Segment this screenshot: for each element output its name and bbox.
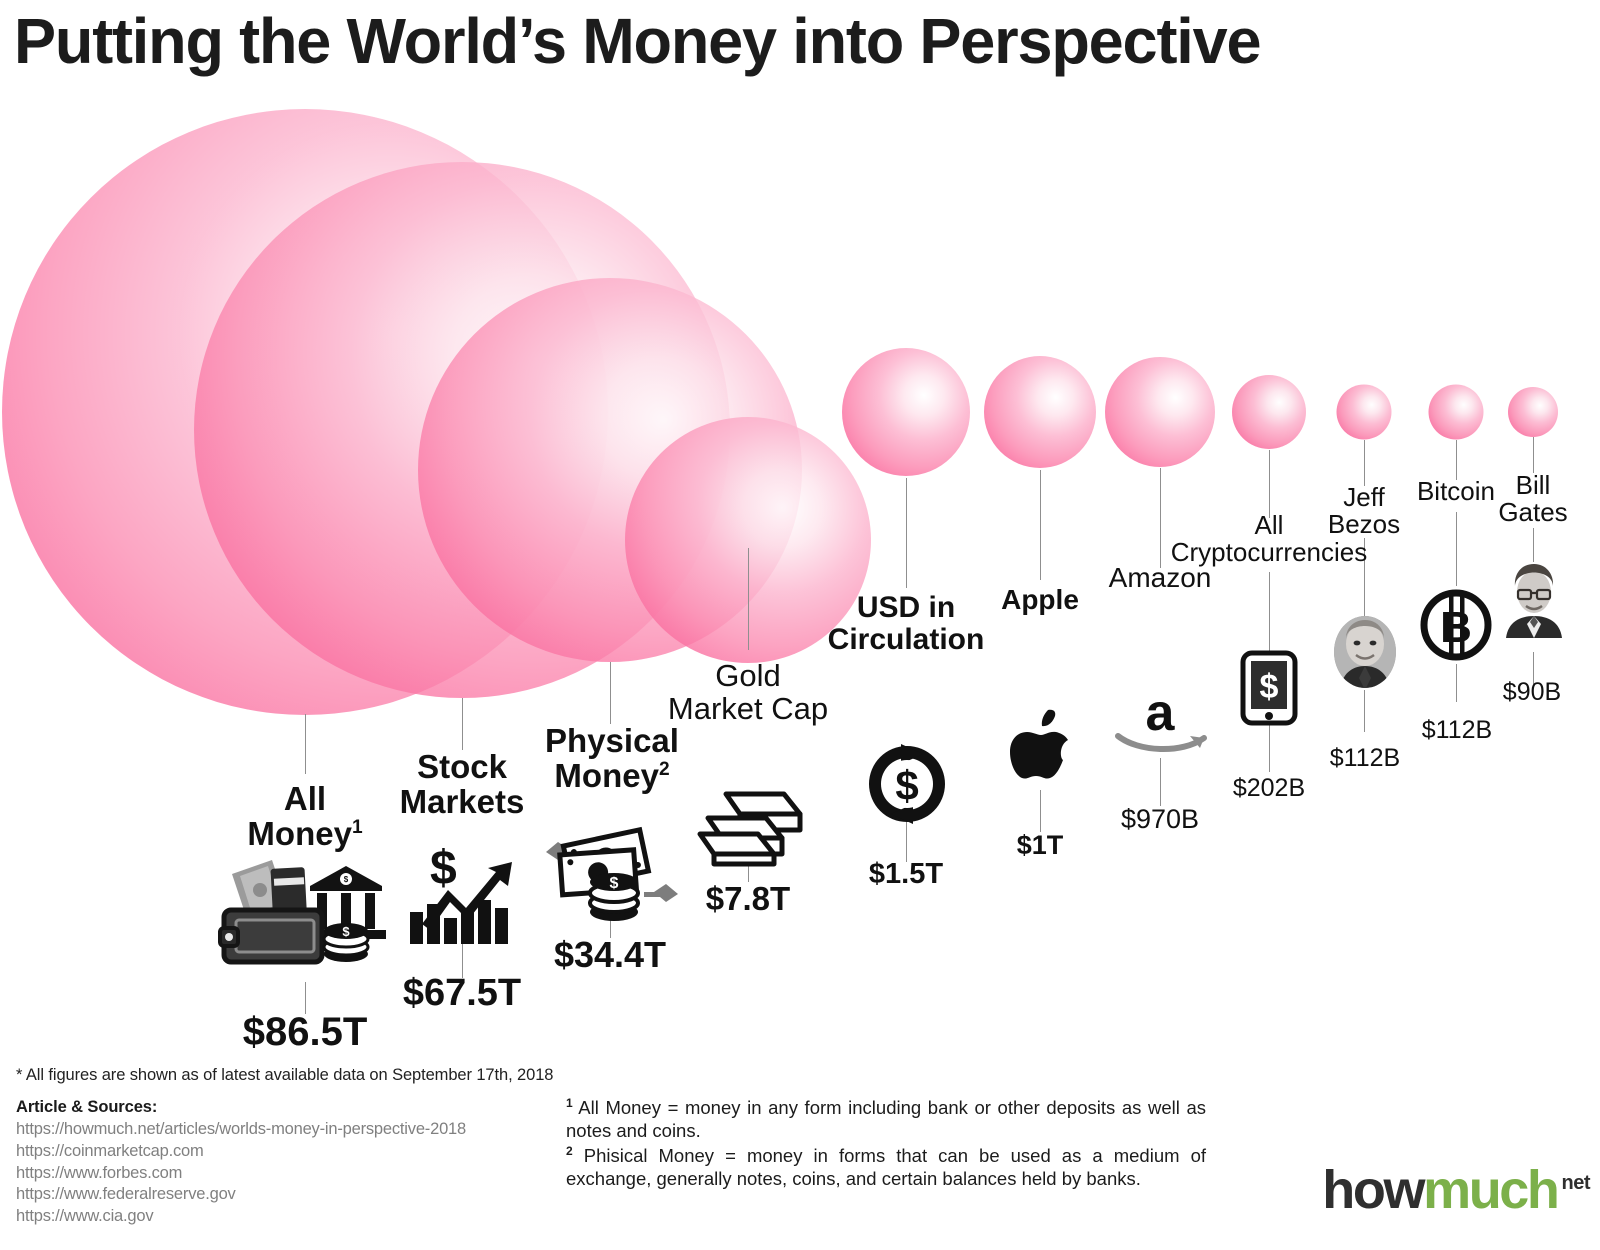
leader-crypto <box>1269 450 1270 518</box>
label-amazon: Amazon <box>1060 563 1260 592</box>
value-usd-circulation: $1.5T <box>826 858 986 891</box>
footnote-1: 1 All Money = money in any form includin… <box>566 1096 1206 1143</box>
bubble-all-cryptocurrencies <box>1232 375 1306 449</box>
footnote-marker: 2 <box>566 1144 573 1158</box>
wallet-bank-coins-icon: 0000 0000 $ $ <box>214 846 394 971</box>
footnote-2: 2 Phisical Money = money in forms that c… <box>566 1144 1206 1191</box>
value-all-money: $86.5T <box>205 1010 405 1055</box>
bubble-usd-in-circulation <box>842 348 970 476</box>
footnote-text: All Money = money in any form including … <box>566 1097 1206 1141</box>
source-link[interactable]: https://www.forbes.com <box>16 1163 466 1185</box>
banknotes-coins-exchange-icon: $ <box>544 812 680 929</box>
howmuch-logo[interactable]: howmuchnet <box>1322 1163 1590 1217</box>
leader-gates <box>1533 437 1534 473</box>
svg-text:$: $ <box>610 875 619 892</box>
footnotes-block: 1 All Money = money in any form includin… <box>566 1096 1206 1192</box>
bill-gates-portrait-icon <box>1500 562 1568 643</box>
value-bitcoin: $112B <box>1392 716 1522 745</box>
value-amazon: $970B <box>1084 804 1236 835</box>
bubble-jeff-bezos <box>1337 385 1392 440</box>
svg-text:$: $ <box>344 875 349 884</box>
leader-bezos-lower2 <box>1364 690 1365 732</box>
svg-text:a: a <box>1146 690 1176 742</box>
source-link[interactable]: https://howmuch.net/articles/worlds-mone… <box>16 1119 466 1141</box>
infographic-canvas: Putting the World’s Money into Perspecti… <box>0 0 1600 1250</box>
value-bill-gates: $90B <box>1472 678 1592 707</box>
source-link[interactable]: https://www.cia.gov <box>16 1206 466 1228</box>
date-note: * All figures are shown as of latest ava… <box>16 1066 553 1085</box>
source-link[interactable]: https://www.federalreserve.gov <box>16 1184 466 1206</box>
logo-net: net <box>1562 1172 1591 1194</box>
svg-text:$: $ <box>342 924 350 939</box>
logo-how: how <box>1322 1160 1423 1220</box>
leader-apple <box>1040 470 1041 580</box>
label-gold-market-cap: Gold Market Cap <box>628 660 868 725</box>
bubble-amazon <box>1105 357 1215 467</box>
leader-gold-market-cap <box>748 548 749 650</box>
leader-physical-money <box>610 662 611 724</box>
source-link[interactable]: https://coinmarketcap.com <box>16 1141 466 1163</box>
value-gold-market-cap: $7.8T <box>658 880 838 918</box>
bubble-bill-gates <box>1508 387 1558 437</box>
leader-stock-markets <box>462 698 463 750</box>
leader-crypto-lower <box>1269 572 1270 656</box>
value-physical-money: $34.4T <box>512 934 708 976</box>
apple-logo-icon <box>1008 708 1074 789</box>
gold-bars-icon <box>692 786 808 875</box>
amazon-logo-icon: a <box>1112 690 1210 761</box>
value-jeff-bezos: $112B <box>1300 744 1430 773</box>
value-all-crypto: $202B <box>1199 774 1339 803</box>
bar-chart-growth-icon: $ <box>400 838 524 955</box>
bubble-apple <box>984 356 1096 468</box>
footnote-text: Phisical Money = money in forms that can… <box>566 1145 1206 1189</box>
leader-apple-lower <box>1040 790 1041 832</box>
sources-heading: Article & Sources: <box>16 1098 466 1117</box>
bitcoin-logo-icon: B <box>1419 588 1493 667</box>
label-bill-gates: Bill Gates <box>1468 472 1598 527</box>
dollar-circulation-icon: $ <box>865 742 949 831</box>
svg-text:$: $ <box>430 842 457 895</box>
svg-text:$: $ <box>895 762 918 809</box>
leader-bezos <box>1364 440 1365 486</box>
value-stock-markets: $67.5T <box>362 972 562 1015</box>
svg-text:$: $ <box>1260 668 1279 706</box>
leader-amazon-lower <box>1160 758 1161 806</box>
sources-block: Article & Sources: https://howmuch.net/a… <box>16 1098 466 1228</box>
svg-text:B: B <box>1440 603 1472 652</box>
bubble-bitcoin <box>1429 385 1484 440</box>
phone-dollar-icon: $ <box>1240 650 1298 731</box>
leader-bitcoin <box>1456 440 1457 480</box>
leader-usd-circulation <box>906 478 907 588</box>
logo-much: much <box>1423 1160 1557 1220</box>
leader-all-money <box>305 714 306 774</box>
leader-bitcoin-lower <box>1456 512 1457 586</box>
leader-bitcoin-lower2 <box>1456 664 1457 702</box>
footnote-marker: 1 <box>566 1096 573 1110</box>
label-physical-money: Physical Money2 <box>500 724 724 793</box>
jeff-bezos-portrait-icon <box>1332 614 1398 695</box>
